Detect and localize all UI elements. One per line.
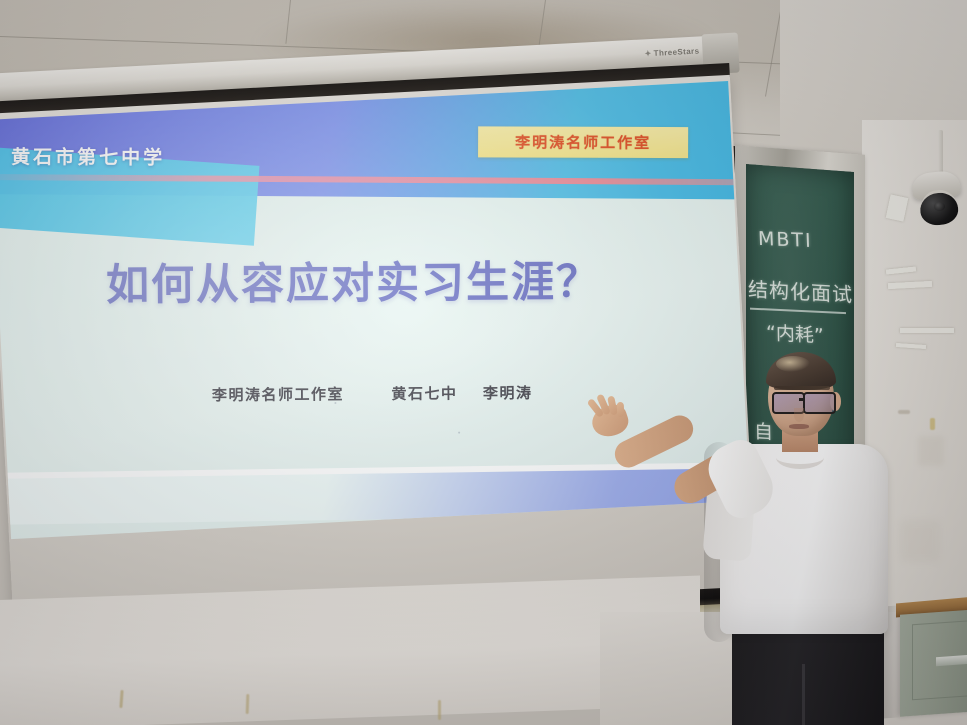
slide-studio-badge-label: 李明涛名师工作室 [515,131,651,152]
blackboard-line-structured-interview: 结构化面试 [748,273,853,308]
slide-subtitle-studio: 李明涛名师工作室 [212,385,344,404]
screen-dust-speck [334,402,336,404]
slide-title: 如何从容应对实习生涯？ [106,247,601,312]
screen-dust-speck [458,432,460,434]
trouser-seam [802,664,805,725]
presenter [586,346,876,725]
wall-scuff [898,410,910,414]
eyebrows [774,386,830,390]
shirt-collar [776,446,824,469]
finger [617,402,625,417]
classroom-photo-scene: MBTI 结构化面试 “内耗” 自 省 ✦ThreeStars 黄石市第七中学 … [0,0,967,725]
wall-tape-mark [900,328,954,333]
camera-mount-pole [938,130,943,176]
blackboard-underline [750,308,846,314]
blackboard-line-mbti: MBTI [758,228,813,252]
glasses-bridge [799,398,805,401]
wall-scuff [900,520,940,562]
slide-school-name: 黄石市第七中学 [11,142,165,170]
presenter-trousers [732,624,884,725]
nose [794,408,804,422]
star-icon: ✦ [644,49,652,58]
slide-subtitle-presenter: 李明涛 [483,384,533,402]
wall-scuff [930,418,935,430]
wall-mark [438,700,441,720]
slide-studio-badge: 李明涛名师工作室 [478,126,688,158]
mouth [789,424,809,429]
hair-highlight [776,356,810,372]
wall-scuff [918,436,944,466]
slide-subtitle-school: 黄石七中 [391,384,457,402]
glasses-lens-right [803,392,836,414]
slide-subtitle: 李明涛名师工作室 黄石七中 李明涛 [212,382,533,405]
blackboard-line-neihao: “内耗” [766,318,824,348]
screen-dust-speck [209,296,211,298]
camera-lens [934,202,945,211]
